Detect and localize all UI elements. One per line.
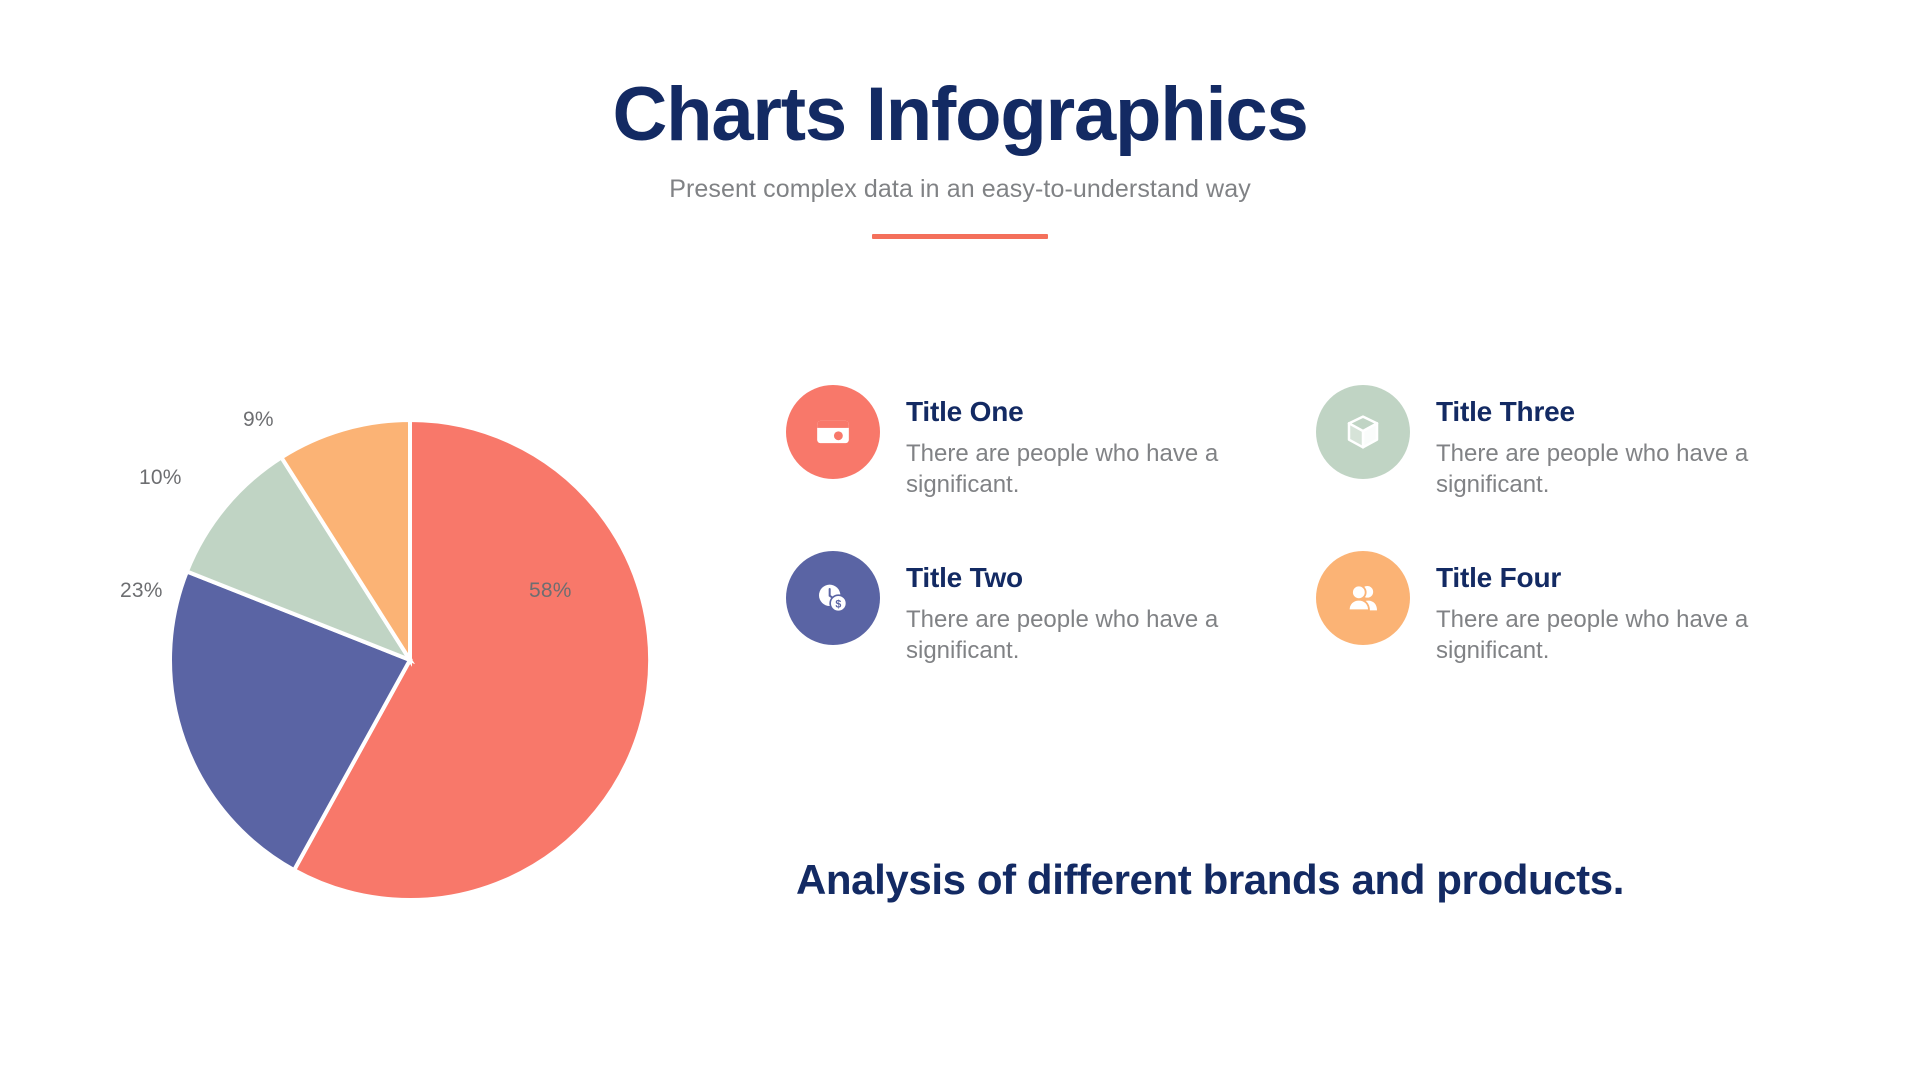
- legend-text-block: Title Three There are people who have a …: [1436, 385, 1766, 501]
- pie-chart-svg: [110, 370, 750, 930]
- legend-text-block: Title Two There are people who have a si…: [906, 551, 1236, 667]
- legend-item-title: Title Two: [906, 561, 1236, 595]
- legend-text-block: Title One There are people who have a si…: [906, 385, 1236, 501]
- pie-label-slice-4: 9%: [243, 408, 274, 432]
- accent-divider: [872, 234, 1048, 239]
- page-subtitle: Present complex data in an easy-to-under…: [0, 174, 1920, 204]
- pie-label-slice-1: 58%: [529, 579, 572, 603]
- header: Charts Infographics Present complex data…: [0, 74, 1920, 239]
- pie-slices: [170, 420, 650, 900]
- slide-canvas: Charts Infographics Present complex data…: [0, 0, 1920, 1080]
- legend-item-description: There are people who have a significant.: [906, 604, 1236, 667]
- svg-text:$: $: [835, 599, 841, 611]
- legend-text-block: Title Four There are people who have a s…: [1436, 551, 1766, 667]
- legend-item-description: There are people who have a significant.: [1436, 438, 1766, 501]
- legend-item-title: Title Three: [1436, 395, 1766, 429]
- pie-chart: 58% 23% 10% 9%: [110, 370, 750, 930]
- legend-item-description: There are people who have a significant.: [1436, 604, 1766, 667]
- package-box-icon: [1316, 385, 1410, 479]
- legend-item-title: Title One: [906, 395, 1236, 429]
- pie-label-slice-3: 10%: [139, 466, 182, 490]
- clock-money-icon: $: [786, 551, 880, 645]
- credit-card-icon: [786, 385, 880, 479]
- legend-item-title-four[interactable]: Title Four There are people who have a s…: [1316, 551, 1846, 717]
- page-title: Charts Infographics: [0, 74, 1920, 156]
- legend-item-description: There are people who have a significant.: [906, 438, 1236, 501]
- legend-item-title-one[interactable]: Title One There are people who have a si…: [786, 385, 1316, 551]
- legend-item-title: Title Four: [1436, 561, 1766, 595]
- users-icon: [1316, 551, 1410, 645]
- legend-item-title-two[interactable]: $ Title Two There are people who have a …: [786, 551, 1316, 717]
- legend-item-title-three[interactable]: Title Three There are people who have a …: [1316, 385, 1846, 551]
- legend-grid: Title One There are people who have a si…: [786, 385, 1846, 717]
- footer-caption: Analysis of different brands and product…: [796, 856, 1624, 904]
- pie-label-slice-2: 23%: [120, 579, 163, 603]
